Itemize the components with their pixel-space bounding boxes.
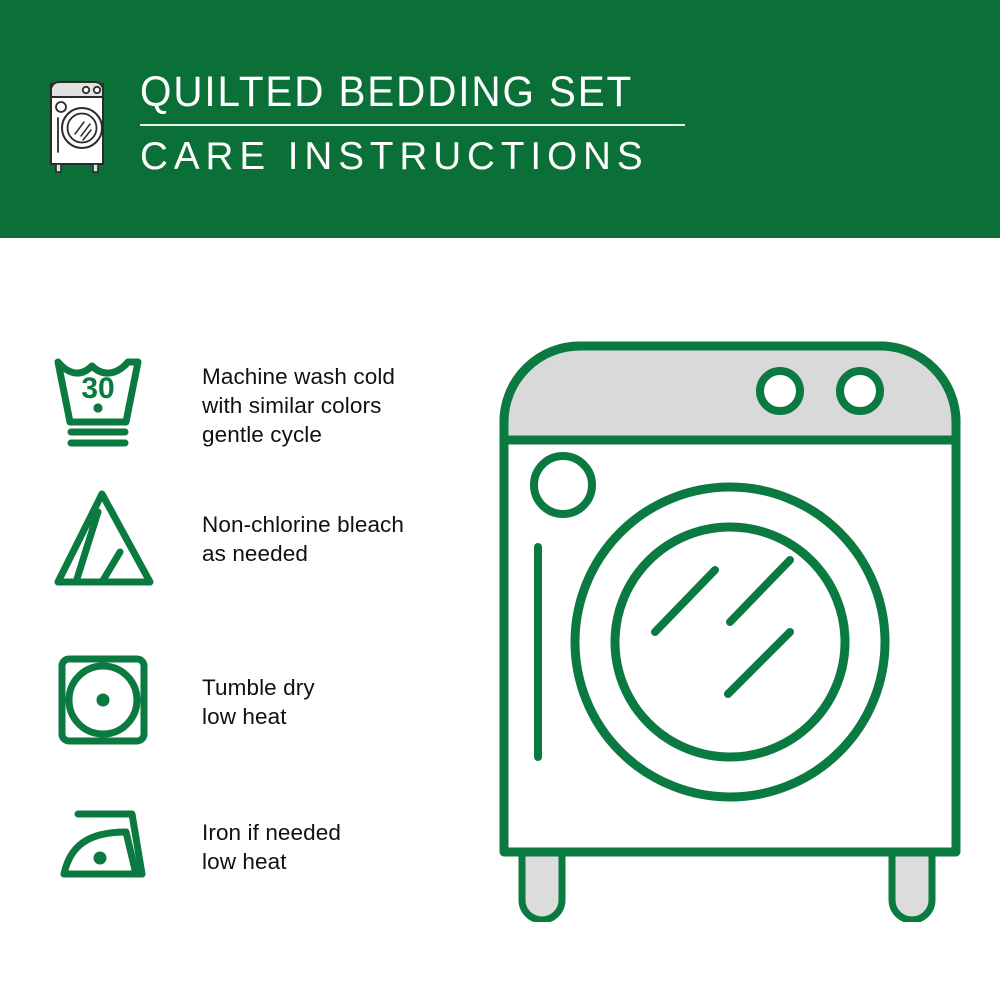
bleach-triangle-icon [50,482,160,592]
door-inner-ring [615,527,845,757]
indicator-circle [534,456,592,514]
page-title: QUILTED BEDDING SET [140,68,666,116]
wash-temperature-label: 30 [81,372,114,405]
care-item-wash-label: Machine wash cold with similar colors ge… [202,362,395,449]
header-title-group: QUILTED BEDDING SET CARE INSTRUCTIONS [140,68,700,179]
wash-tub-30-icon: 30 [50,346,160,456]
iron-icon [50,790,160,900]
care-item-iron: Iron if needed low heat [50,790,470,910]
care-item-tumble-dry-label: Tumble dry low heat [202,673,315,731]
control-knob-1 [760,371,800,411]
washing-machine-icon [45,70,113,173]
header-banner: QUILTED BEDDING SET CARE INSTRUCTIONS [0,0,1000,238]
control-knob-2 [840,371,880,411]
care-item-bleach: Non-chlorine bleach as needed [50,482,470,602]
care-item-wash: 30 Machine wash cold with similar colors… [50,346,470,466]
care-item-iron-label: Iron if needed low heat [202,818,341,876]
title-divider [140,124,685,126]
tumble-dry-icon [50,645,160,755]
page-subtitle: CARE INSTRUCTIONS [140,135,694,179]
care-item-tumble-dry: Tumble dry low heat [50,645,470,765]
care-instructions-infographic: QUILTED BEDDING SET CARE INSTRUCTIONS 30… [0,0,1000,1000]
washing-machine-illustration [480,322,980,922]
care-item-bleach-label: Non-chlorine bleach as needed [202,510,404,568]
